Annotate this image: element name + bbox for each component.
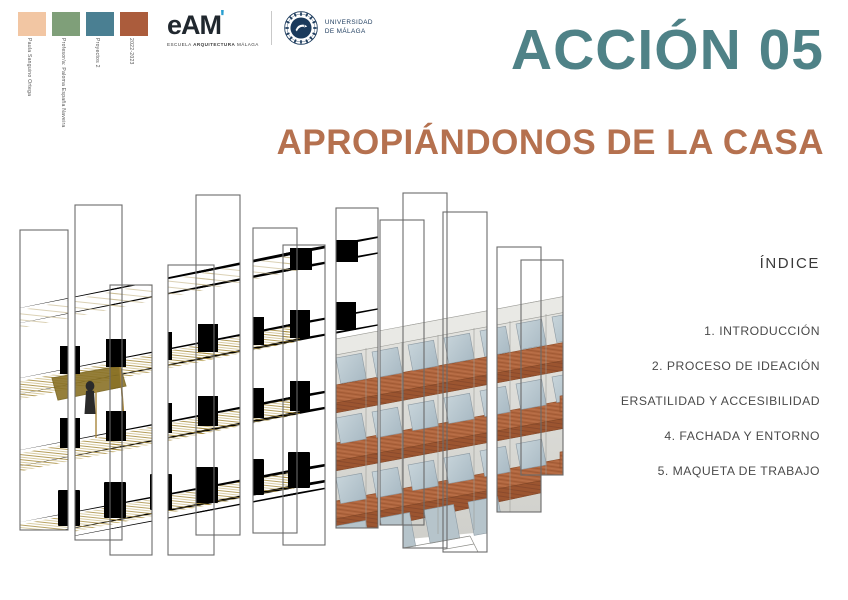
building-strips-svg	[0, 190, 620, 580]
building-perspective-illustration	[0, 190, 620, 580]
swatch-label-course: Proyectos 2	[94, 38, 100, 68]
logo-divider	[271, 11, 272, 45]
swatch-student: Paula Sanguino Ortega	[18, 12, 46, 36]
eam-subtitle-part1: ESCUELA	[167, 42, 193, 47]
uma-line-1: UNIVERSIDAD	[325, 19, 373, 28]
swatch-color-student	[18, 12, 46, 36]
header-swatch-strip: Paula Sanguino Ortega Profesor/a: Paloma…	[18, 12, 148, 36]
swatch-color-professor	[52, 12, 80, 36]
swatch-color-year	[120, 12, 148, 36]
swatch-professor: Profesor/a: Paloma España Naveira	[52, 12, 80, 36]
eam-subtitle-part2: ARQUITECTURA	[193, 42, 235, 47]
eam-wordmark: eAM'	[167, 8, 224, 39]
uma-logo: UNIVERSIDAD DE MÁLAGA	[284, 11, 373, 45]
eam-subtitle: ESCUELA ARQUITECTURA MÁLAGA	[167, 42, 259, 47]
page-subtitle: APROPIÁNDONOS DE LA CASA	[277, 125, 824, 160]
swatch-color-course	[86, 12, 114, 36]
page-title: ACCIÓN 05	[511, 22, 824, 79]
swatch-course: Proyectos 2	[86, 12, 114, 36]
swatch-label-year: 2022-2023	[128, 38, 134, 65]
eam-logo: eAM' ESCUELA ARQUITECTURA MÁLAGA	[167, 8, 259, 47]
logo-bar: eAM' ESCUELA ARQUITECTURA MÁLAGA	[167, 8, 373, 47]
eam-subtitle-part3: MÁLAGA	[235, 42, 259, 47]
eam-wordmark-text: eAM	[167, 10, 221, 40]
swatch-label-student: Paula Sanguino Ortega	[26, 38, 32, 96]
uma-seal-icon	[284, 11, 318, 45]
eam-accent-tick: '	[220, 7, 224, 29]
uma-name: UNIVERSIDAD DE MÁLAGA	[325, 19, 373, 36]
uma-line-2: DE MÁLAGA	[325, 28, 373, 37]
swatch-label-professor: Profesor/a: Paloma España Naveira	[60, 38, 66, 128]
swatch-year: 2022-2023	[120, 12, 148, 36]
human-figure-silhouette	[85, 381, 96, 414]
